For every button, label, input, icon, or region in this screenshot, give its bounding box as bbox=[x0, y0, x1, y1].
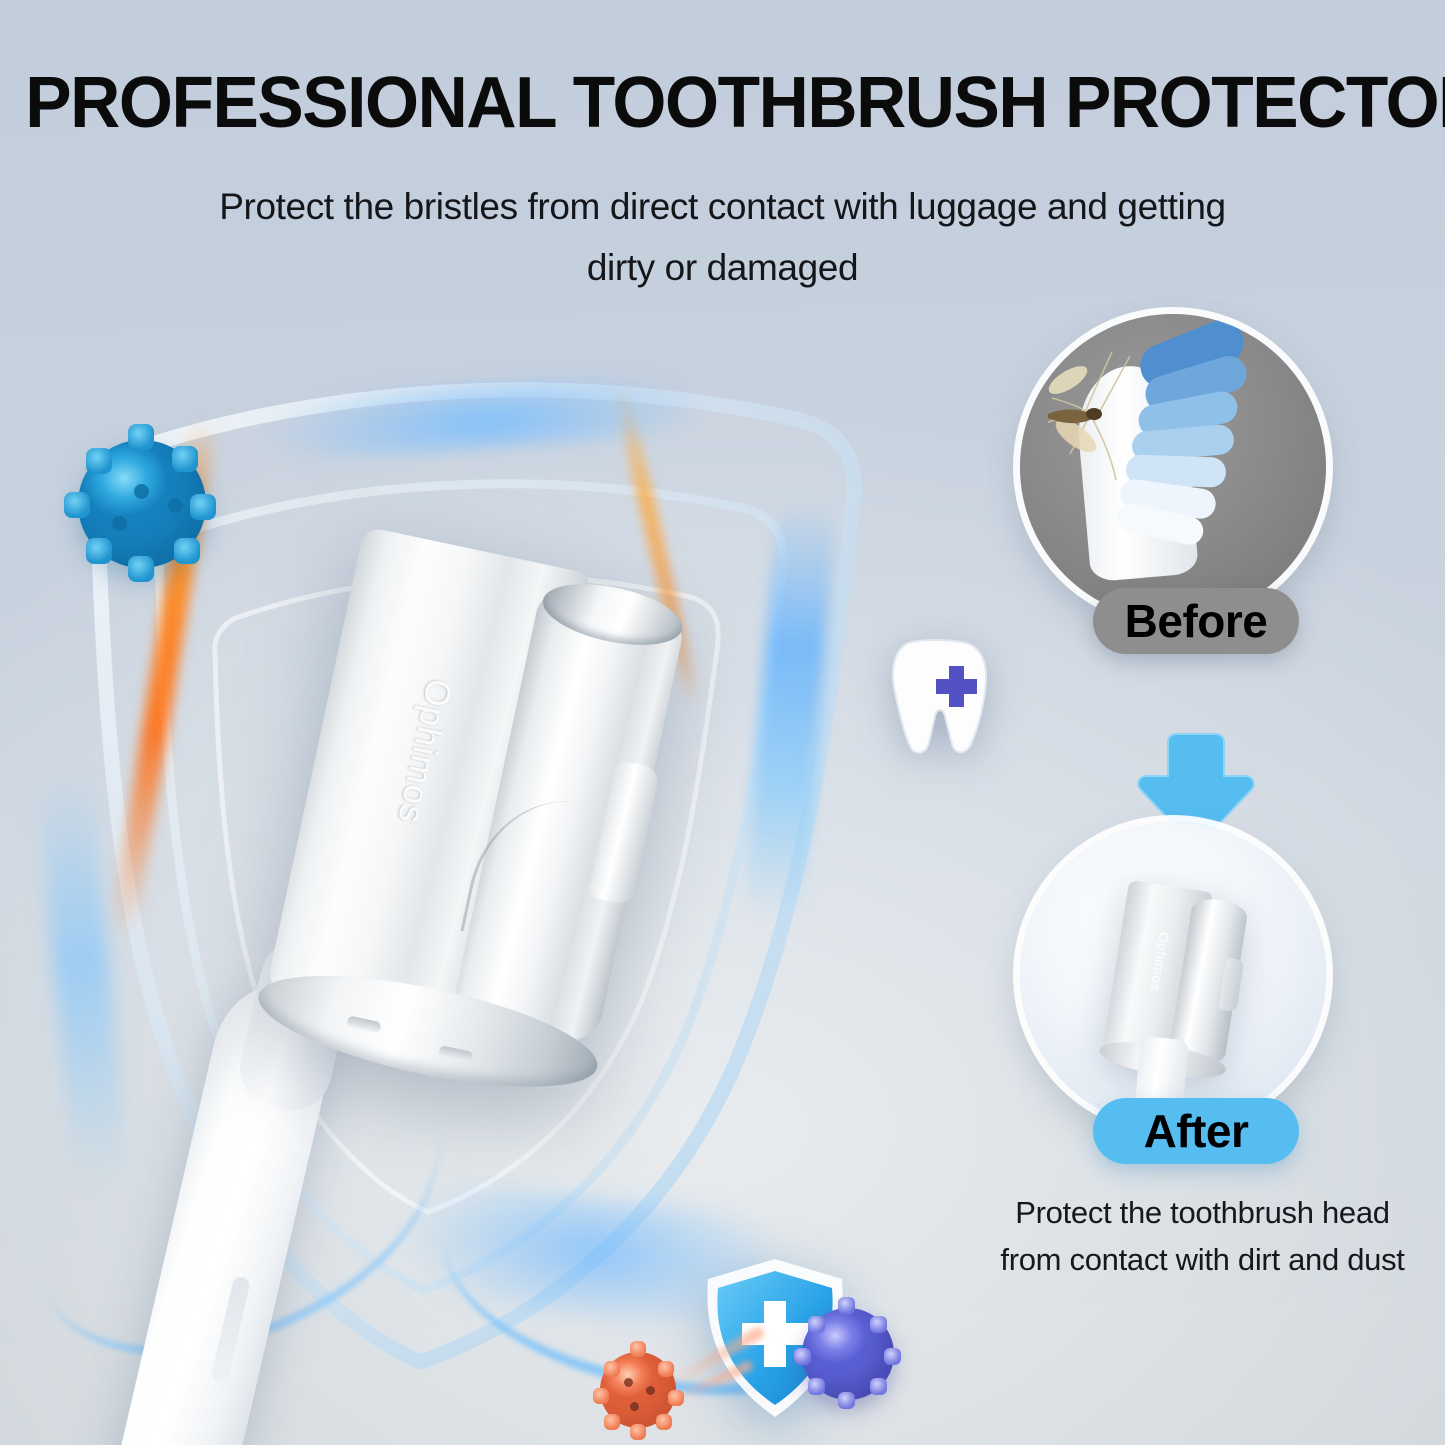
page-title: PROFESSIONAL TOOTHBRUSH PROTECTOR bbox=[25, 62, 1419, 144]
cap-vent-slot bbox=[438, 1045, 474, 1063]
blue-virus-icon bbox=[78, 440, 206, 568]
after-caption: Protect the toothbrush head from contact… bbox=[960, 1190, 1445, 1283]
caption-line-1: Protect the toothbrush head bbox=[960, 1190, 1445, 1237]
after-label: After bbox=[1093, 1098, 1299, 1164]
after-photo: Ophimos bbox=[1020, 822, 1326, 1128]
before-label: Before bbox=[1093, 588, 1299, 654]
cap-vent-slot bbox=[346, 1015, 382, 1033]
purple-germ-icon bbox=[802, 1308, 894, 1400]
caption-line-2: from contact with dirt and dust bbox=[960, 1237, 1445, 1284]
mosquito-icon bbox=[1034, 344, 1164, 494]
before-photo bbox=[1020, 314, 1326, 620]
product-marketing-image: PROFESSIONAL TOOTHBRUSH PROTECTOR Protec… bbox=[0, 0, 1445, 1445]
subtitle-line-1: Protect the bristles from direct contact… bbox=[0, 176, 1445, 237]
orange-germ-icon bbox=[600, 1352, 676, 1428]
subtitle-line-2: dirty or damaged bbox=[0, 237, 1445, 298]
hero-scene: Ophimos bbox=[0, 300, 1010, 1445]
before-after-column: Before Ophimos After Protect the toothbr… bbox=[960, 300, 1445, 1445]
page-subtitle: Protect the bristles from direct contact… bbox=[0, 176, 1445, 298]
handle-slot bbox=[210, 1275, 251, 1384]
